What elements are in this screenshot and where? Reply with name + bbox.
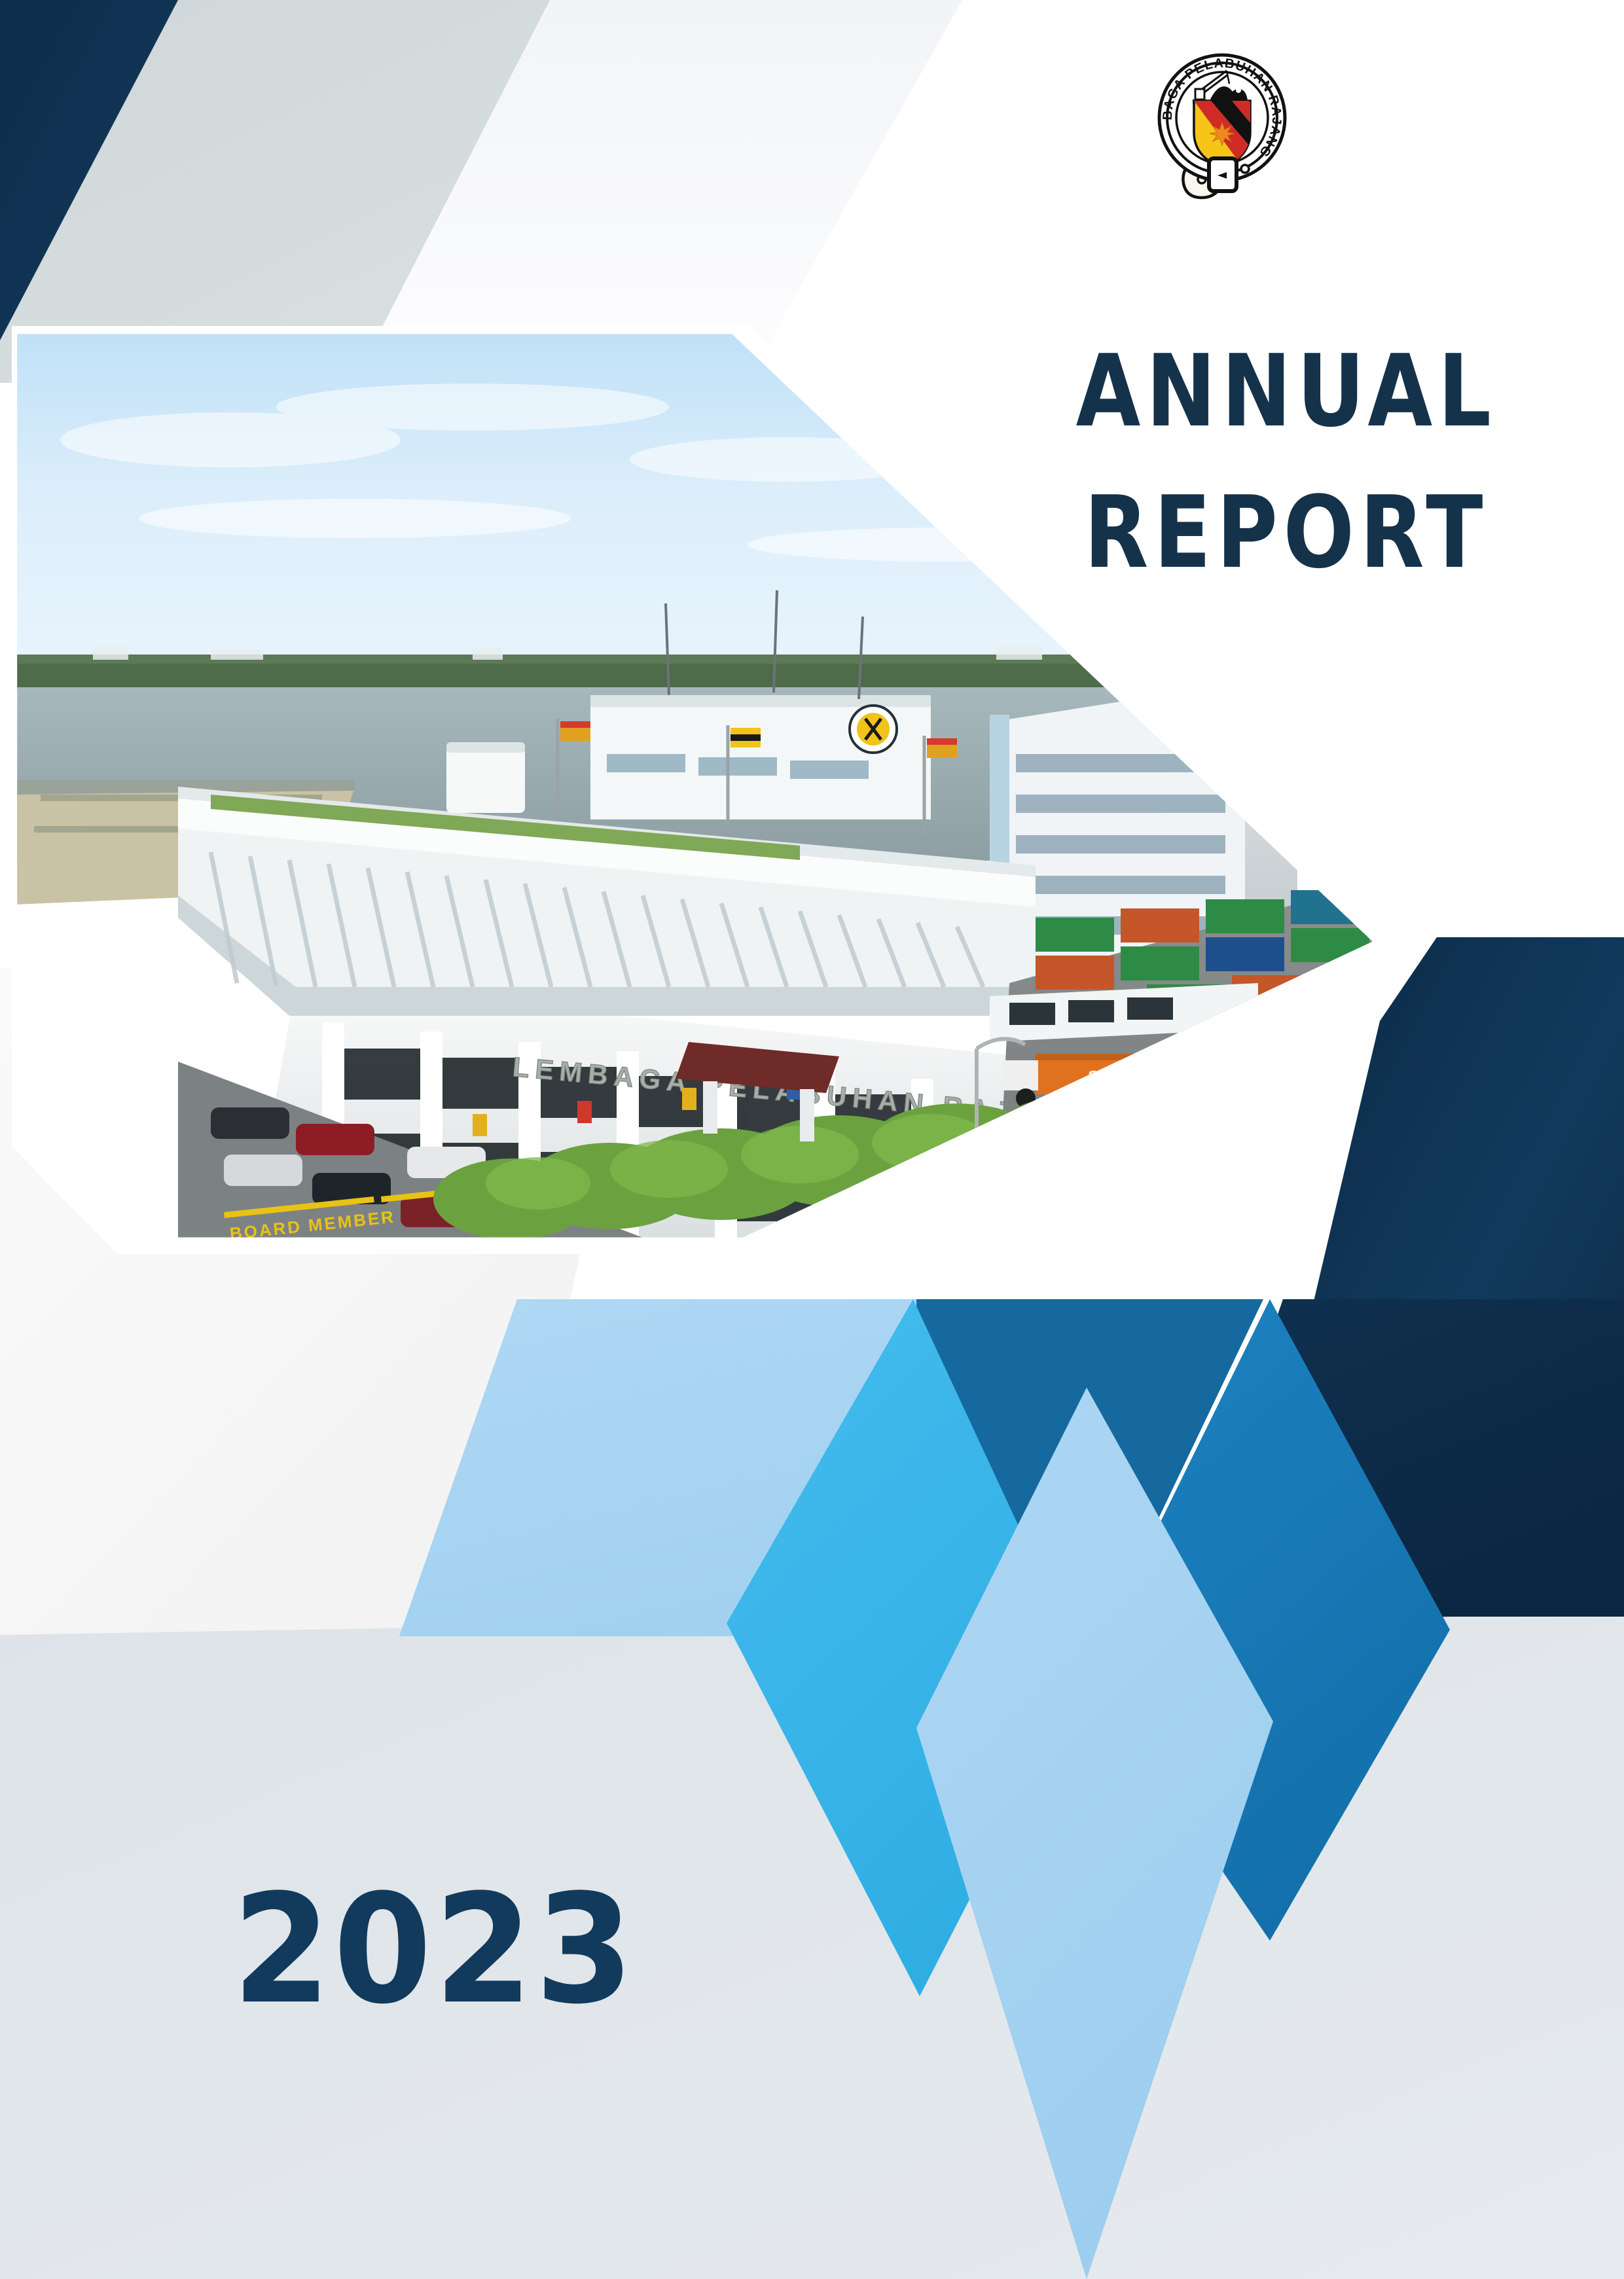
organization-logo: LEMBAGA PELABUHAN RAJANG [1153,47,1291,204]
title-line-report: REPORT [1034,462,1540,603]
report-year: 2023 [232,1875,636,2026]
cover-title: ANNUAL REPORT [985,321,1587,603]
annual-report-cover: LEMBAGA PELABUHAN RAJANG [0,0,1624,2279]
title-line-annual: ANNUAL [1034,321,1540,462]
